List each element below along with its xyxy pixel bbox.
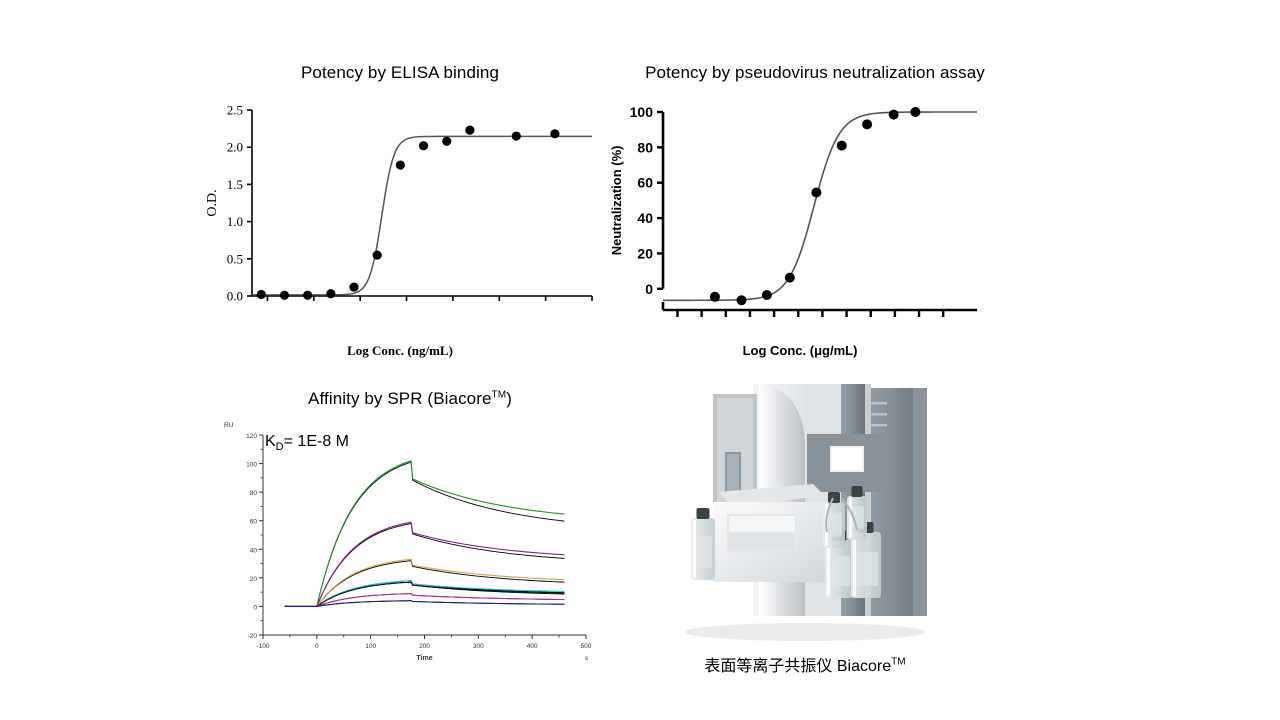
kd-subscript: D [276,441,284,453]
neutralization-y-tick-label: 20 [637,245,653,261]
spr-x-axis-title: Time [416,655,432,662]
neutralization-y-tick-label: 40 [637,210,653,226]
spr-title-main: Affinity by SPR (Biacore [308,389,492,408]
elisa-data-point [396,160,405,169]
elisa-plot-svg: 0.00.51.01.52.02.5O.D. [200,100,600,330]
spr-y-axis-title: RU [224,422,234,429]
elisa-y-tick-label: 1.0 [227,214,243,229]
elisa-y-tick-label: 0.5 [227,251,243,266]
neutralization-fit-curve [663,112,977,300]
elisa-data-point [419,141,428,150]
neutralization-data-point [737,295,747,305]
spr-chart-title: Affinity by SPR (BiacoreTM) [200,389,620,409]
spr-title-trademark: TM [492,389,507,400]
spr-x-tick-label: 500 [581,643,592,650]
panel-elisa: Potency by ELISA binding 0.00.51.01.52.0… [190,55,610,365]
panel-spr: Affinity by SPR (BiacoreTM) -20020406080… [200,385,620,685]
neutralization-y-tick-label: 80 [637,139,653,155]
elisa-plot-area: 0.00.51.01.52.02.5O.D. [200,100,600,330]
neutralization-data-point [910,107,920,117]
spr-y-tick-label: -20 [248,633,258,640]
neutralization-y-tick-label: 0 [645,281,653,297]
neutralization-y-tick-label: 60 [637,175,653,191]
spr-y-tick-label: 60 [250,519,258,526]
spr-sensorgram-svg: -20020406080100120-1000100200300400500RU… [218,417,608,672]
elisa-data-point [257,290,266,299]
elisa-data-point [373,250,382,259]
kd-prefix: K [265,433,276,450]
elisa-data-point [442,137,451,146]
biacore-instrument-svg [655,380,955,650]
spr-y-tick-label: 20 [250,576,258,583]
elisa-data-point [465,125,474,134]
elisa-x-axis-title: Log Conc. (ng/mL) [190,343,610,359]
spr-x-tick-label: 400 [527,643,538,650]
neutralization-data-point [837,141,847,151]
elisa-fit-curve [252,136,592,294]
spr-title-tail: ) [506,389,512,408]
spr-y-tick-label: 40 [250,547,258,554]
spr-kd-annotation: KD= 1E-8 M [265,433,349,451]
elisa-y-tick-label: 0.0 [227,289,243,304]
neutralization-y-tick-label: 100 [630,104,654,120]
neutralization-data-point [762,290,772,300]
neutralization-plot-area: 020406080100Neutralization (%) [605,100,1005,330]
elisa-data-point [512,131,521,140]
spr-x-tick-label: 300 [473,643,484,650]
spr-x-tick-label: 100 [365,643,376,650]
spr-y-tick-label: 120 [246,433,257,440]
elisa-data-point [303,291,312,300]
spr-plot-area: -20020406080100120-1000100200300400500RU… [218,417,608,672]
kd-value: = 1E-8 M [284,433,349,450]
instrument-caption: 表面等离子共振仪 BiacoreTM [655,652,955,676]
elisa-data-point [349,282,358,291]
elisa-data-point [550,129,559,138]
elisa-data-point [280,291,289,300]
elisa-chart-title: Potency by ELISA binding [190,63,610,83]
panel-instrument-photo: 表面等离子共振仪 BiacoreTM [655,380,955,680]
elisa-y-tick-label: 2.0 [227,140,243,155]
reagent-bottle [691,508,715,580]
neutralization-data-point [889,110,899,120]
neutralization-data-point [710,292,720,302]
spr-x-tick-label: 200 [419,643,430,650]
spr-y-tick-label: 0 [253,604,257,611]
neutralization-data-point [811,187,821,197]
elisa-y-axis-title: O.D. [205,189,220,216]
panel-neutralization: Potency by pseudovirus neutralization as… [600,55,1030,365]
elisa-y-tick-label: 1.5 [227,177,243,192]
instrument-caption-trademark: TM [891,657,905,668]
instrument-caption-text: 表面等离子共振仪 Biacore [704,658,891,675]
spr-x-axis-unit: s [585,655,589,662]
neutralization-x-axis-label-text: Log Conc. (μg/mL) [743,343,858,358]
neutralization-y-axis-title: Neutralization (%) [609,145,624,255]
neutralization-plot-svg: 020406080100Neutralization (%) [605,100,1005,330]
spr-x-tick-label: -100 [256,643,269,650]
neutralization-data-point [862,119,872,129]
biacore-instrument-image [655,380,955,655]
spr-x-tick-label: 0 [315,643,319,650]
elisa-x-axis-label-text: Log Conc. (ng/mL) [347,343,453,358]
neutralization-data-point [785,273,795,283]
elisa-data-point [326,289,335,298]
neutralization-x-axis-title: Log Conc. (μg/mL) [600,343,1000,358]
neutralization-chart-title: Potency by pseudovirus neutralization as… [600,63,1030,83]
spr-y-tick-label: 100 [246,462,257,469]
spr-y-tick-label: 80 [250,490,258,497]
elisa-y-tick-label: 2.5 [227,103,243,118]
